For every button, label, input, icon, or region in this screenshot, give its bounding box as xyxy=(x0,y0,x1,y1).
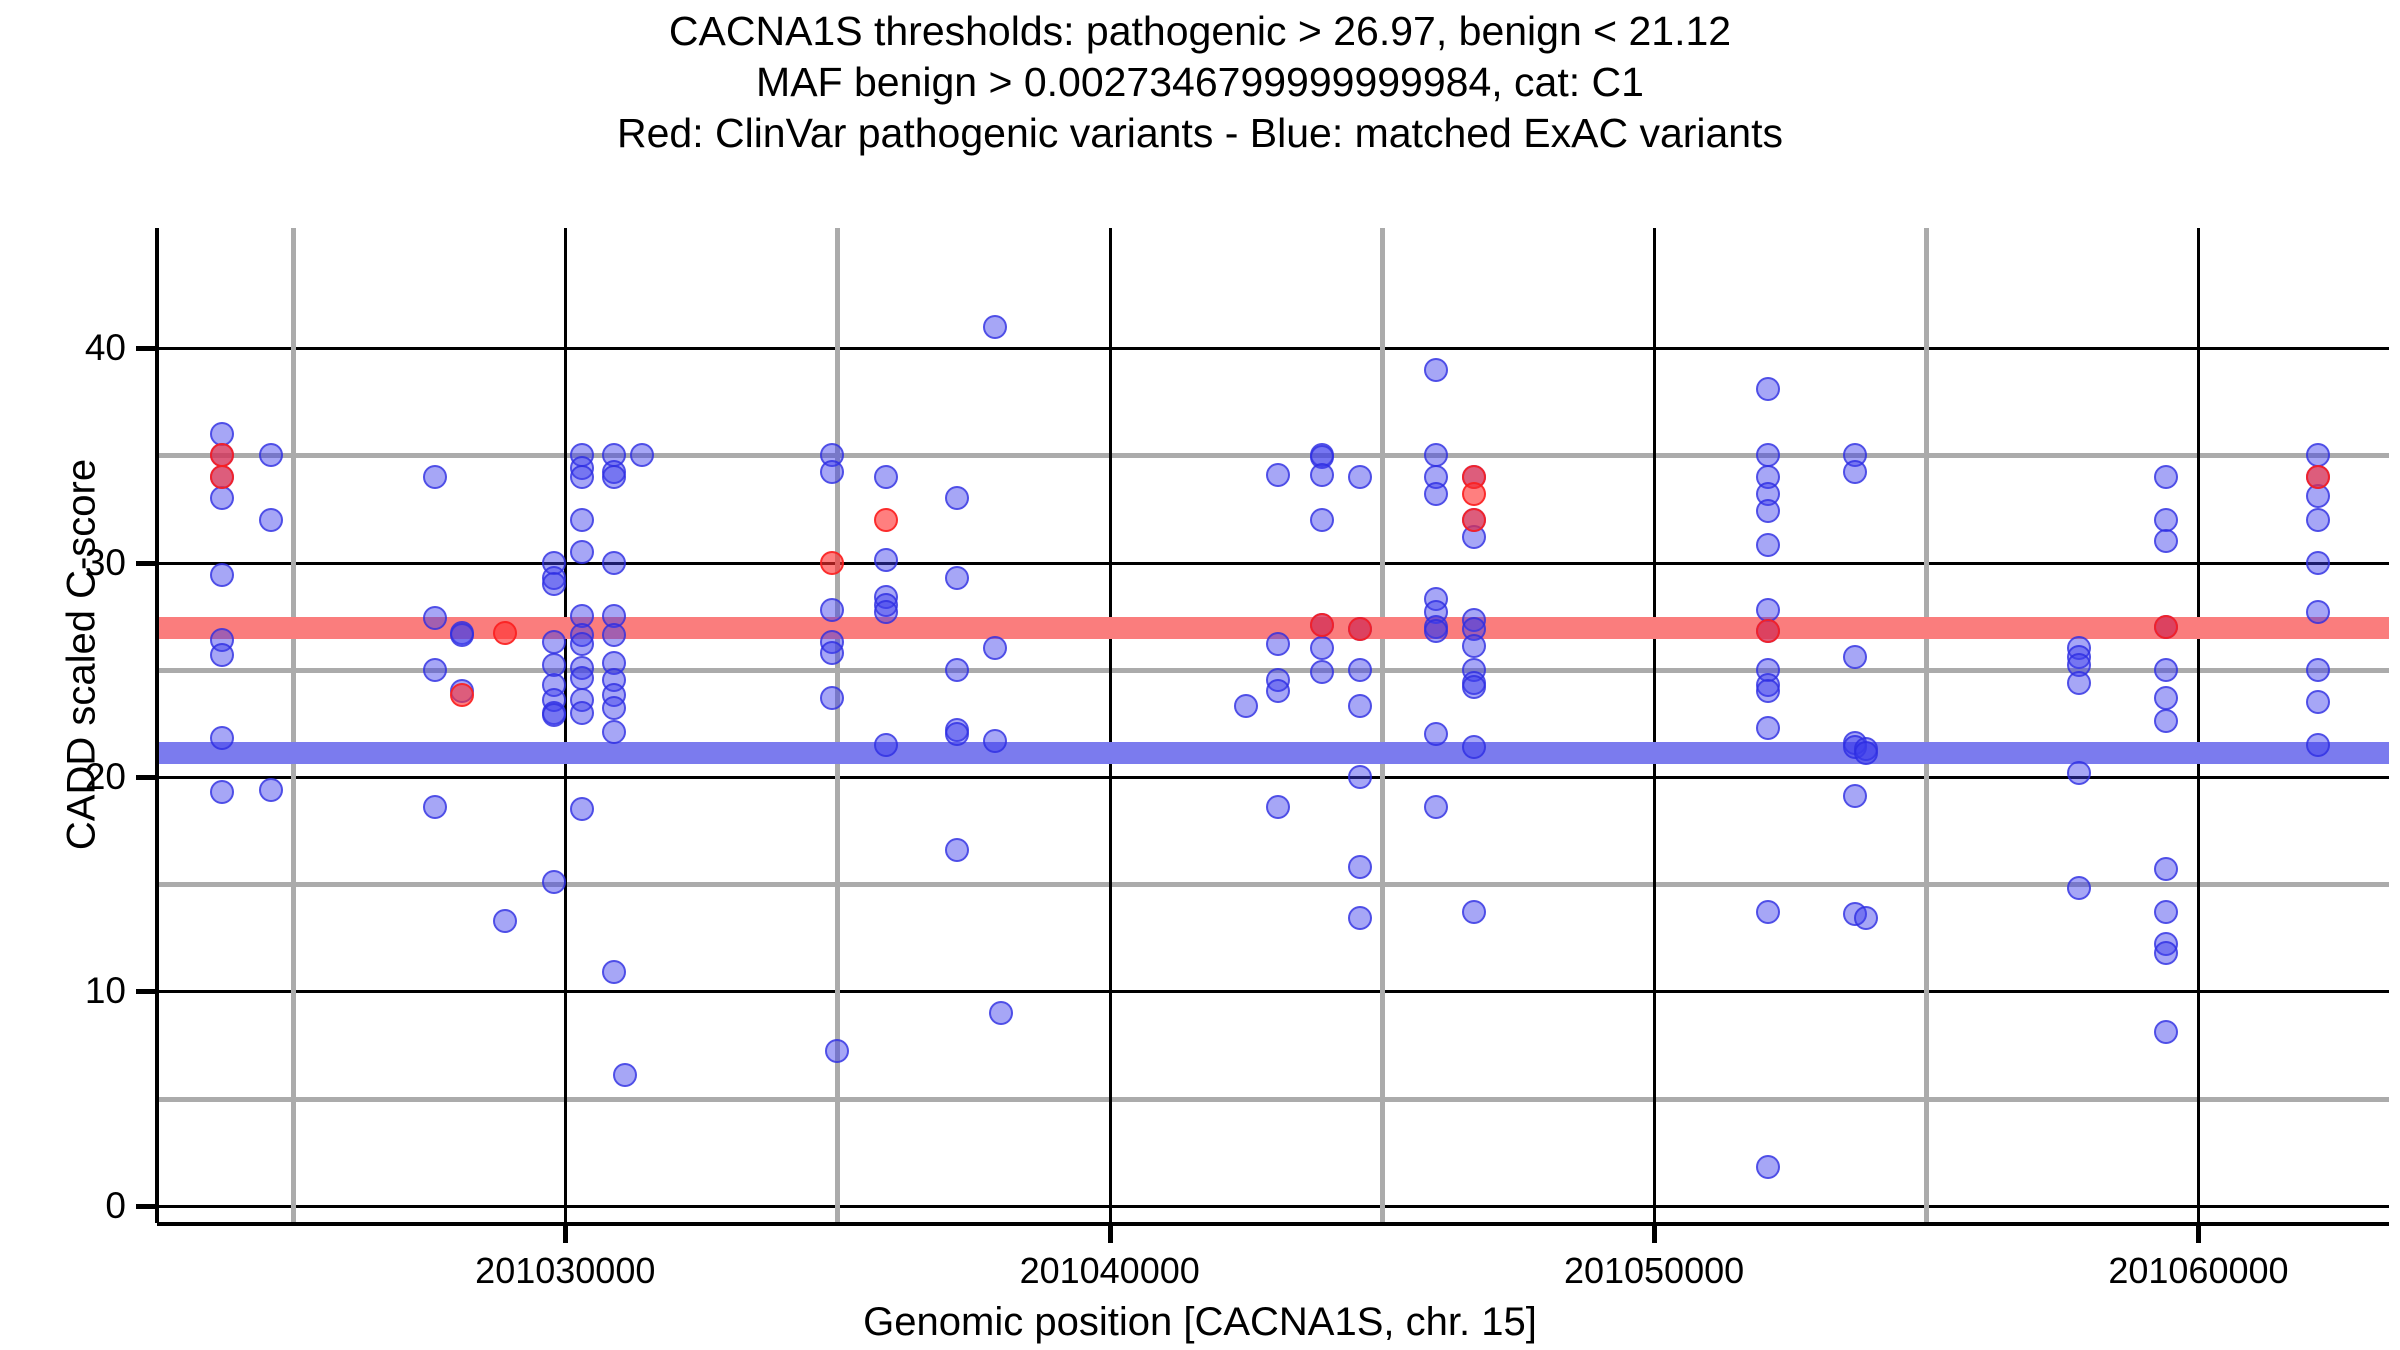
data-point-blue xyxy=(493,909,517,933)
data-point-blue xyxy=(602,696,626,720)
x-tick-label: 201060000 xyxy=(2018,1253,2378,1289)
threshold-band-benign xyxy=(157,742,2389,764)
data-point-blue xyxy=(945,838,969,862)
data-point-blue xyxy=(983,636,1007,660)
data-point-blue xyxy=(1756,499,1780,523)
data-point-blue xyxy=(983,729,1007,753)
plot-canvas xyxy=(157,228,2389,1223)
x-tick-label: 201030000 xyxy=(385,1253,745,1289)
data-point-blue xyxy=(945,658,969,682)
data-point-blue xyxy=(874,548,898,572)
gridline-horizontal-minor xyxy=(157,882,2389,887)
data-point-blue xyxy=(2154,1020,2178,1044)
data-point-blue xyxy=(570,540,594,564)
data-point-blue xyxy=(1424,619,1448,643)
data-point-blue xyxy=(1756,900,1780,924)
y-tick-mark xyxy=(136,346,156,351)
data-point-blue xyxy=(1756,679,1780,703)
data-point-blue xyxy=(613,1063,637,1087)
data-point-blue xyxy=(423,658,447,682)
y-tick-mark xyxy=(136,775,156,780)
data-point-blue xyxy=(1424,358,1448,382)
data-point-blue xyxy=(259,778,283,802)
data-point-red xyxy=(2154,615,2178,639)
gridline-vertical-minor xyxy=(835,228,840,1223)
data-point-blue xyxy=(2067,876,2091,900)
data-point-blue xyxy=(210,563,234,587)
data-point-blue xyxy=(1310,508,1334,532)
data-point-blue xyxy=(423,465,447,489)
data-point-blue xyxy=(1348,694,1372,718)
y-tick-mark xyxy=(136,1204,156,1209)
data-point-blue xyxy=(2306,508,2330,532)
data-point-blue xyxy=(1424,482,1448,506)
data-point-blue xyxy=(1756,716,1780,740)
data-point-blue xyxy=(1843,460,1867,484)
gridline-vertical-major xyxy=(1109,228,1112,1223)
data-point-blue xyxy=(825,1039,849,1063)
plot-area-wrapper xyxy=(157,228,2389,1223)
x-tick-label: 201050000 xyxy=(1474,1253,1834,1289)
data-point-blue xyxy=(542,572,566,596)
x-tick-mark xyxy=(1108,1224,1113,1243)
gridline-horizontal-minor xyxy=(157,453,2389,458)
y-tick-label: 0 xyxy=(0,1187,126,1224)
data-point-blue xyxy=(989,1001,1013,1025)
data-point-blue xyxy=(210,422,234,446)
data-point-red xyxy=(874,508,898,532)
data-point-blue xyxy=(945,566,969,590)
data-point-red xyxy=(210,465,234,489)
data-point-blue xyxy=(570,701,594,725)
data-point-blue xyxy=(2154,508,2178,532)
data-point-blue xyxy=(2154,709,2178,733)
data-point-blue xyxy=(210,780,234,804)
y-axis-label: CADD scaled C-score xyxy=(60,165,105,1145)
data-point-blue xyxy=(2067,761,2091,785)
data-point-red xyxy=(820,551,844,575)
data-point-blue xyxy=(570,508,594,532)
data-point-red xyxy=(493,621,517,645)
data-point-blue xyxy=(983,315,1007,339)
data-point-blue xyxy=(602,465,626,489)
x-tick-label: 201040000 xyxy=(930,1253,1290,1289)
gridline-vertical-minor xyxy=(291,228,296,1223)
data-point-blue xyxy=(1756,377,1780,401)
data-point-blue xyxy=(1348,658,1372,682)
data-point-blue xyxy=(1462,634,1486,658)
data-point-blue xyxy=(1843,784,1867,808)
scatter-plot-figure: CACNA1S thresholds: pathogenic > 26.97, … xyxy=(0,0,2400,1350)
data-point-blue xyxy=(1756,443,1780,467)
gridline-vertical-major xyxy=(1653,228,1656,1223)
title-line-3: Red: ClinVar pathogenic variants - Blue:… xyxy=(0,108,2400,159)
title-line-2: MAF benign > 0.0027346799999999984, cat:… xyxy=(0,57,2400,108)
title-line-1: CACNA1S thresholds: pathogenic > 26.97, … xyxy=(0,6,2400,57)
data-point-blue xyxy=(570,666,594,690)
data-point-blue xyxy=(1756,533,1780,557)
data-point-red xyxy=(1462,482,1486,506)
data-point-blue xyxy=(450,623,474,647)
gridline-horizontal-minor xyxy=(157,1097,2389,1102)
gridline-vertical-minor xyxy=(1924,228,1929,1223)
data-point-red xyxy=(210,443,234,467)
data-point-blue xyxy=(1424,795,1448,819)
data-point-blue xyxy=(1348,906,1372,930)
y-tick-mark xyxy=(136,561,156,566)
data-point-blue xyxy=(630,443,654,467)
data-point-blue xyxy=(1266,679,1290,703)
data-point-blue xyxy=(1266,795,1290,819)
data-point-blue xyxy=(259,443,283,467)
data-point-blue xyxy=(1266,463,1290,487)
data-point-blue xyxy=(1310,636,1334,660)
gridline-vertical-minor xyxy=(1380,228,1385,1223)
data-point-blue xyxy=(2306,658,2330,682)
x-tick-mark xyxy=(1652,1224,1657,1243)
data-point-blue xyxy=(1424,443,1448,467)
data-point-blue xyxy=(259,508,283,532)
data-point-blue xyxy=(570,465,594,489)
data-point-blue xyxy=(602,720,626,744)
gridline-horizontal-major xyxy=(157,1205,2389,1208)
data-point-blue xyxy=(1756,1155,1780,1179)
x-tick-mark xyxy=(2196,1224,2201,1243)
data-point-blue xyxy=(2154,857,2178,881)
data-point-blue xyxy=(1854,906,1878,930)
chart-title: CACNA1S thresholds: pathogenic > 26.97, … xyxy=(0,6,2400,159)
x-axis-line xyxy=(157,1222,2389,1226)
data-point-blue xyxy=(820,686,844,710)
gridline-vertical-major xyxy=(564,228,567,1223)
data-point-blue xyxy=(1843,645,1867,669)
data-point-blue xyxy=(1348,855,1372,879)
data-point-blue xyxy=(542,630,566,654)
gridline-horizontal-major xyxy=(157,562,2389,565)
data-point-blue xyxy=(1234,694,1258,718)
gridline-horizontal-major xyxy=(157,347,2389,350)
data-point-blue xyxy=(1310,463,1334,487)
data-point-blue xyxy=(1348,465,1372,489)
data-point-blue xyxy=(1348,765,1372,789)
data-point-blue xyxy=(945,486,969,510)
data-point-red xyxy=(1756,619,1780,643)
data-point-blue xyxy=(1462,675,1486,699)
x-axis-label: Genomic position [CACNA1S, chr. 15] xyxy=(0,1300,2400,1345)
data-point-blue xyxy=(2154,941,2178,965)
data-point-blue xyxy=(2306,733,2330,757)
data-point-blue xyxy=(542,870,566,894)
data-point-blue xyxy=(602,623,626,647)
y-tick-mark xyxy=(136,989,156,994)
data-point-blue xyxy=(210,486,234,510)
data-point-blue xyxy=(210,643,234,667)
data-point-blue xyxy=(874,465,898,489)
data-point-blue xyxy=(423,606,447,630)
gridline-horizontal-major xyxy=(157,776,2389,779)
data-point-blue xyxy=(1266,632,1290,656)
data-point-blue xyxy=(820,641,844,665)
data-point-blue xyxy=(2306,690,2330,714)
data-point-blue xyxy=(570,632,594,656)
data-point-blue xyxy=(1756,598,1780,622)
data-point-blue xyxy=(2306,443,2330,467)
data-point-blue xyxy=(2067,671,2091,695)
data-point-blue xyxy=(2306,600,2330,624)
data-point-blue xyxy=(2154,658,2178,682)
gridline-horizontal-major xyxy=(157,990,2389,993)
data-point-red xyxy=(1310,613,1334,637)
data-point-blue xyxy=(2154,900,2178,924)
data-point-blue xyxy=(570,797,594,821)
x-tick-mark xyxy=(563,1224,568,1243)
data-point-blue xyxy=(820,598,844,622)
gridline-vertical-major xyxy=(2197,228,2200,1223)
y-axis-line xyxy=(155,228,159,1223)
data-point-red xyxy=(1462,508,1486,532)
data-point-red xyxy=(450,683,474,707)
data-point-blue xyxy=(2154,465,2178,489)
data-point-red xyxy=(2306,465,2330,489)
data-point-blue xyxy=(423,795,447,819)
data-point-red xyxy=(1348,617,1372,641)
data-point-blue xyxy=(2154,686,2178,710)
data-point-blue xyxy=(2306,551,2330,575)
data-point-blue xyxy=(602,960,626,984)
data-point-blue xyxy=(1310,660,1334,684)
data-point-blue xyxy=(602,551,626,575)
data-point-blue xyxy=(2154,529,2178,553)
data-point-blue xyxy=(542,703,566,727)
data-point-blue xyxy=(1462,900,1486,924)
